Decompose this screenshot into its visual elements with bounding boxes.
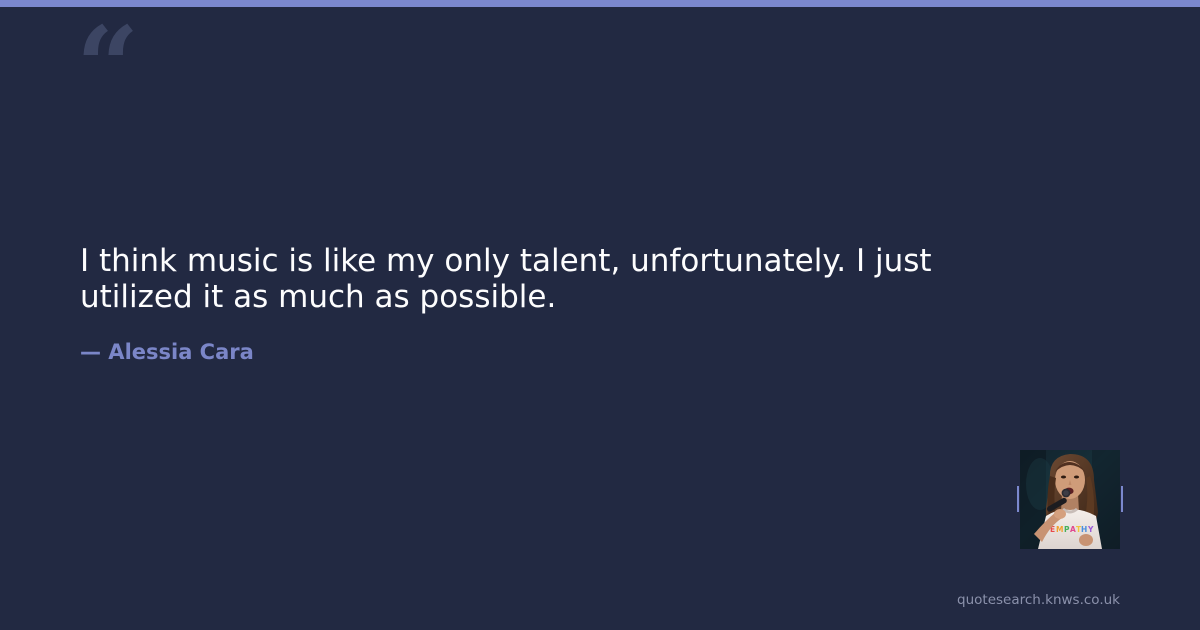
svg-text:M: M bbox=[1056, 525, 1063, 534]
quote-card: “ I think music is like my only talent, … bbox=[0, 0, 1200, 630]
quote-text: I think music is like my only talent, un… bbox=[80, 243, 1000, 315]
author-portrait-image: E M P A T H Y bbox=[1020, 450, 1120, 549]
svg-text:Y: Y bbox=[1087, 525, 1094, 534]
thumbnail-tick-left bbox=[1017, 486, 1019, 512]
svg-text:H: H bbox=[1081, 525, 1087, 534]
open-quote-icon: “ bbox=[76, 12, 137, 122]
quote-author: — Alessia Cara bbox=[80, 338, 254, 366]
source-url[interactable]: quotesearch.knws.co.uk bbox=[957, 591, 1120, 609]
top-accent-bar bbox=[0, 0, 1200, 7]
author-thumbnail[interactable]: E M P A T H Y bbox=[1020, 450, 1120, 549]
thumbnail-tick-right bbox=[1121, 486, 1123, 512]
